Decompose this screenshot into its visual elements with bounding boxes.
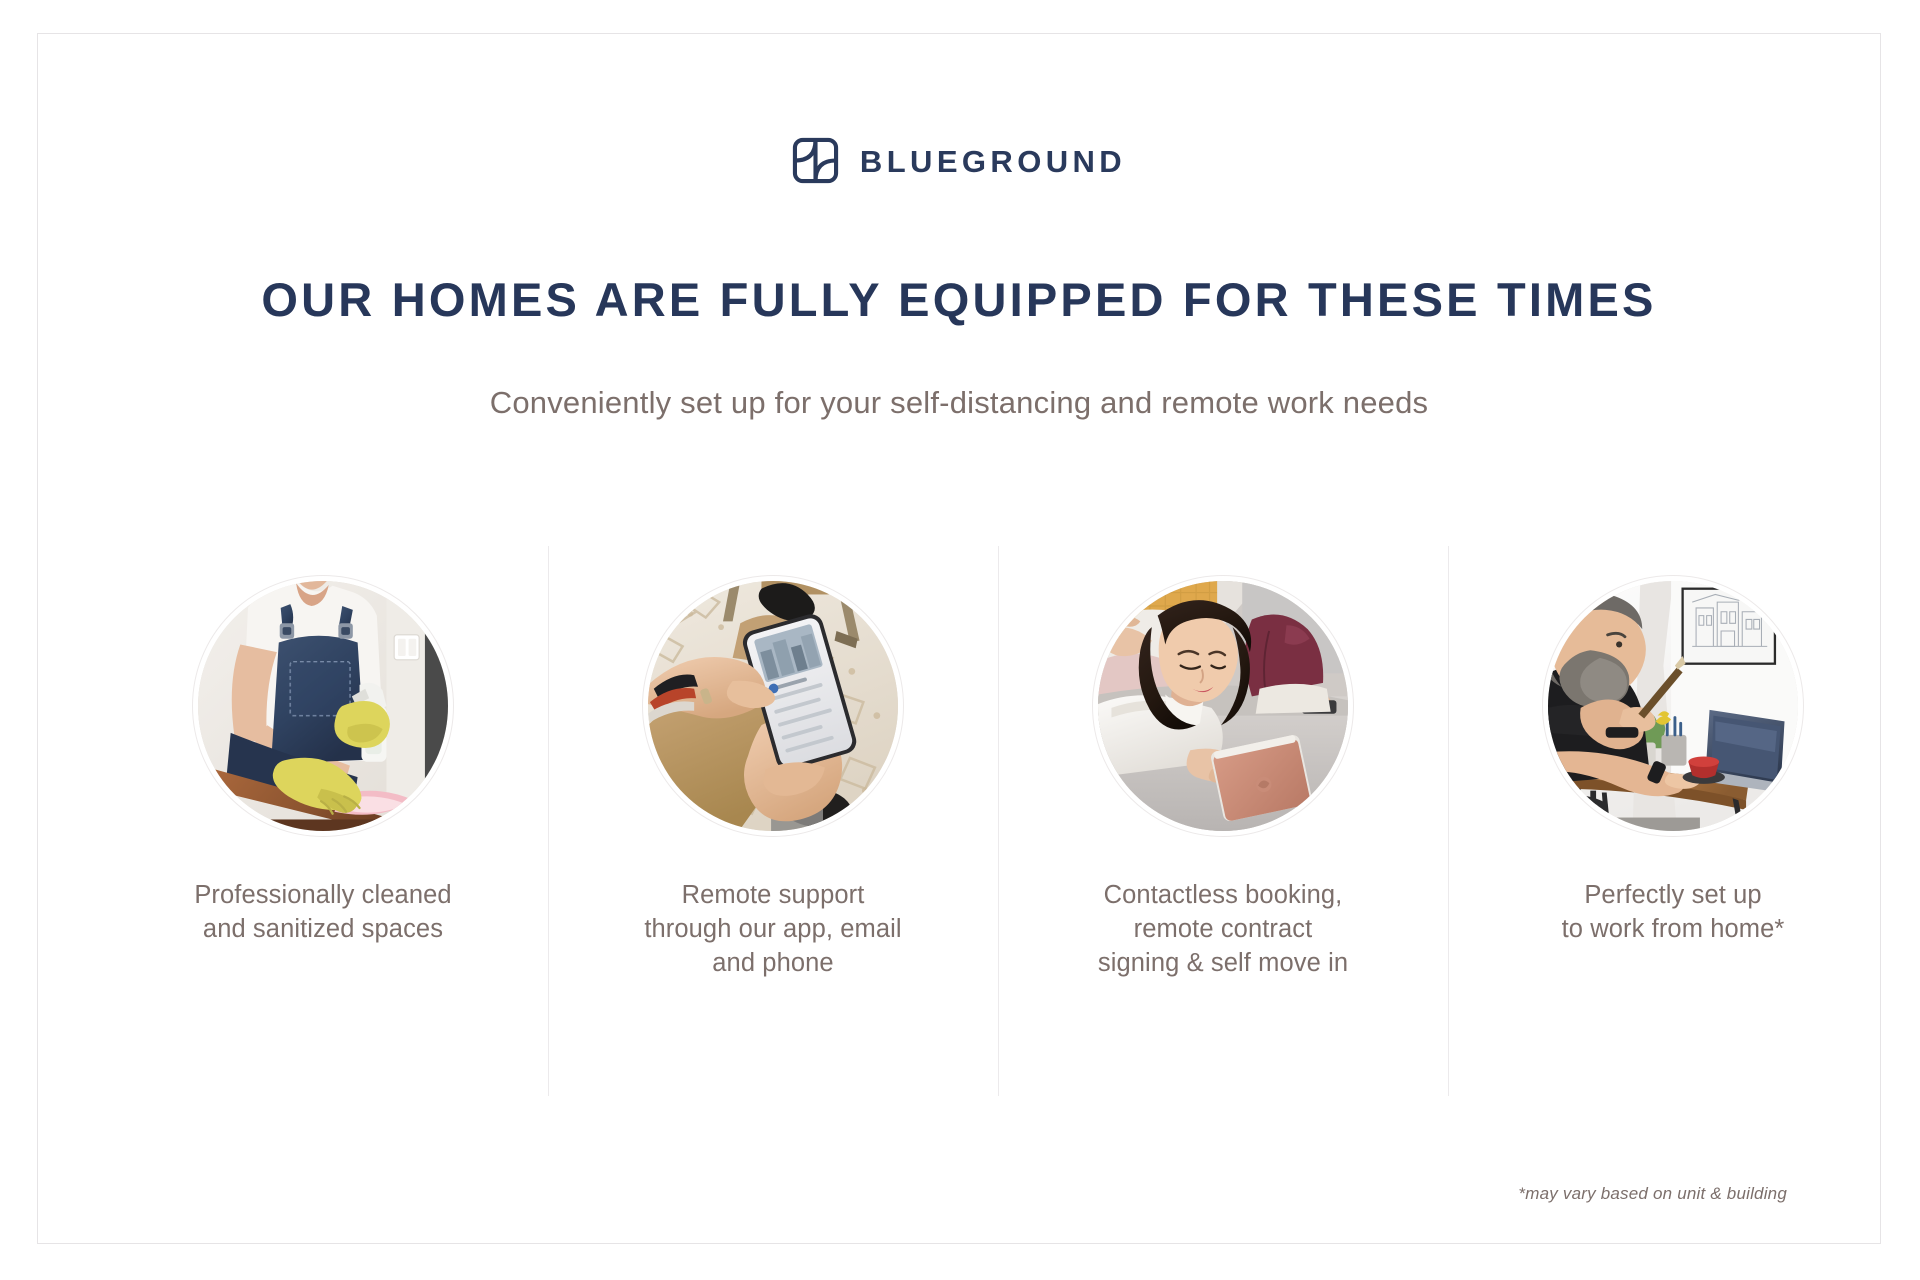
feature-caption: Perfectly set up to work from home*	[1562, 879, 1785, 947]
photo-woman-on-bed-with-tablet	[1098, 581, 1348, 831]
blueground-square-mark-icon	[792, 137, 839, 184]
caption-line: Remote support	[644, 879, 901, 913]
feature-column-contactless-booking: Contactless booking, remote contract sig…	[998, 546, 1448, 1096]
page-title: OUR HOMES ARE FULLY EQUIPPED FOR THESE T…	[38, 274, 1880, 326]
photo-cleaning-gloves-wiping-counter	[198, 581, 448, 831]
caption-line: Contactless booking,	[1098, 879, 1348, 913]
photo-hands-holding-smartphone-app	[648, 581, 898, 831]
feature-column-cleaning: Professionally cleaned and sanitized spa…	[98, 546, 548, 1096]
feature-column-work-from-home: Perfectly set up to work from home*	[1448, 546, 1898, 1096]
feature-caption: Professionally cleaned and sanitized spa…	[194, 879, 451, 947]
feature-columns: Professionally cleaned and sanitized spa…	[98, 546, 1898, 1096]
brand-name: BLUEGROUND	[860, 144, 1126, 177]
feature-image-frame	[192, 575, 454, 837]
page-subtitle: Conveniently set up for your self-distan…	[38, 384, 1880, 423]
caption-line: Professionally cleaned	[194, 879, 451, 913]
page-frame: BLUEGROUND OUR HOMES ARE FULLY EQUIPPED …	[37, 33, 1881, 1244]
caption-line: signing & self move in	[1098, 947, 1348, 981]
feature-image-frame	[642, 575, 904, 837]
promo-page: BLUEGROUND OUR HOMES ARE FULLY EQUIPPED …	[0, 0, 1920, 1280]
caption-line: through our app, email	[644, 913, 901, 947]
feature-column-remote-support: Remote support through our app, email an…	[548, 546, 998, 1096]
feature-caption: Remote support through our app, email an…	[644, 879, 901, 981]
caption-line: and sanitized spaces	[194, 913, 451, 947]
brand-lockup: BLUEGROUND	[38, 137, 1880, 184]
caption-line: Perfectly set up	[1562, 879, 1785, 913]
photo-man-working-at-desk-laptop	[1548, 581, 1798, 831]
caption-line: remote contract	[1098, 913, 1348, 947]
feature-caption: Contactless booking, remote contract sig…	[1098, 879, 1348, 981]
footnote-disclaimer: *may vary based on unit & building	[1518, 1184, 1787, 1204]
caption-line: and phone	[644, 947, 901, 981]
caption-line: to work from home*	[1562, 913, 1785, 947]
feature-image-frame	[1092, 575, 1354, 837]
feature-image-frame	[1542, 575, 1804, 837]
